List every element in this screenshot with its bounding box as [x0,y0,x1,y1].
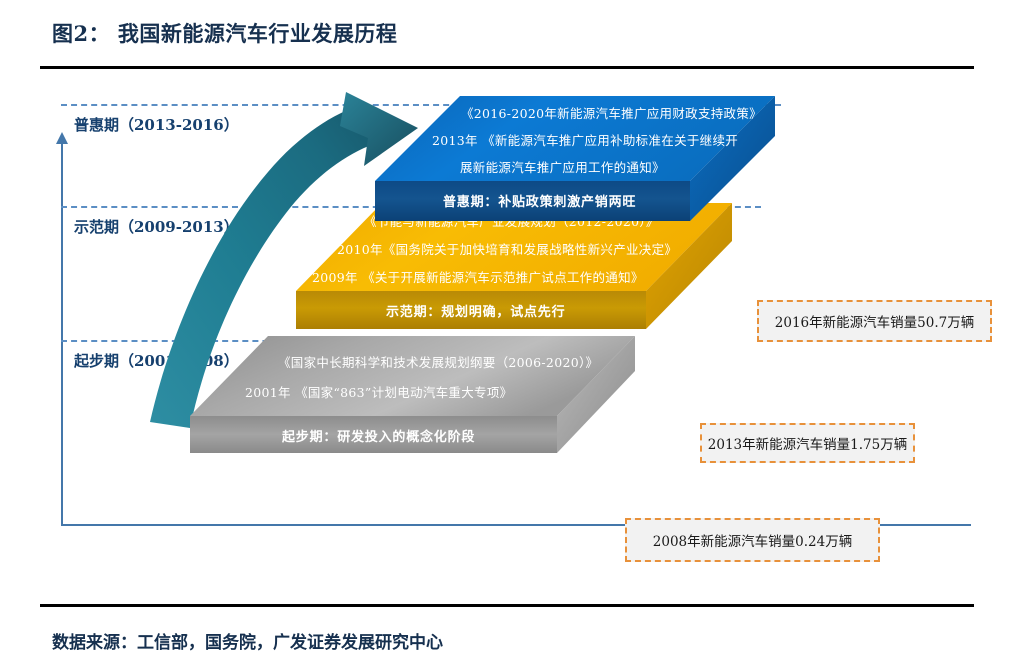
tier-label-demonstration: 示范期（2009-2013） [74,216,239,237]
tier-label-subsidy: 普惠期（2013-2016） [74,114,239,135]
stage-subsidy-policy-2: 2013年 《新能源汽车推广应用补助标准在关于继续开 [432,130,738,149]
stage-subsidy-policy-3: 展新能源汽车推广应用工作的通知》 [460,157,665,176]
stage-subsidy-policy-1: 《2016-2020年新能源汽车推广应用财政支持政策》 [461,103,762,122]
y-axis-arrow-icon [56,132,68,144]
stage-demo-summary: 示范期：规划明确，试点先行 [386,301,565,320]
page-title: 图2： 我国新能源汽车行业发展历程 [52,18,397,48]
stage-block-subsidy: 《2016-2020年新能源汽车推广应用财政支持政策》 2013年 《新能源汽车… [375,96,795,296]
stage-startup-summary: 起步期：研发投入的概念化阶段 [282,426,475,445]
y-axis-line [61,142,63,526]
source-note: 数据来源：工信部，国务院，广发证券发展研究中心 [52,628,443,653]
stage-subsidy-summary: 普惠期：补贴政策刺激产销两旺 [443,191,636,210]
callout-sales-2008: 2008年新能源汽车销量0.24万辆 [625,518,880,562]
footer-divider-rule [40,604,974,607]
diagram-canvas: 普惠期（2013-2016） 示范期（2009-2013） 起步期（2001-2… [0,78,1014,598]
title-divider-rule [40,66,974,69]
callout-sales-2016: 2016年新能源汽车销量50.7万辆 [757,300,992,342]
callout-sales-2013: 2013年新能源汽车销量1.75万辆 [700,423,915,463]
